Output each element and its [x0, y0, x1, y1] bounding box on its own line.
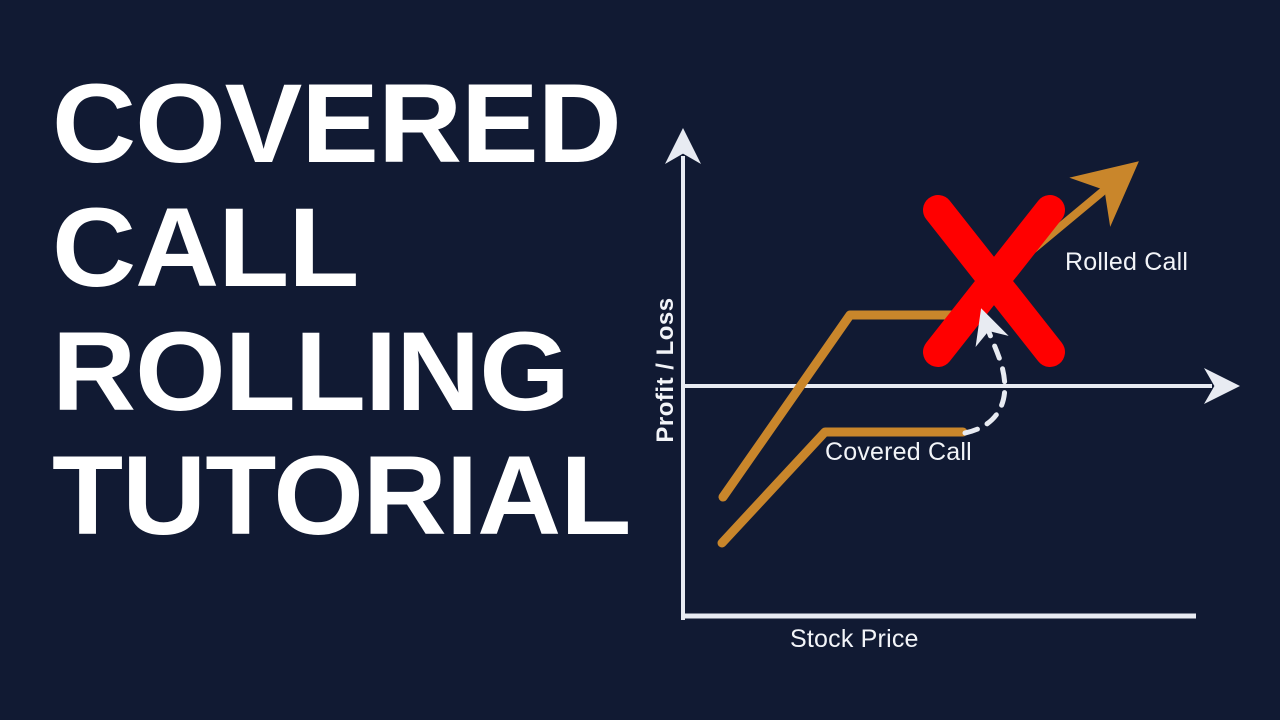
rolled-call-annotation-label: Rolled Call: [1065, 248, 1188, 277]
red-cross-icon: [938, 210, 1050, 352]
y-axis-label: Profit / Loss: [652, 270, 680, 470]
title-line-3: ROLLING: [52, 310, 655, 434]
covered-call-annotation-label: Covered Call: [825, 438, 972, 467]
payoff-diagram: Profit / Loss Stock Price Rolled Call Co…: [620, 120, 1260, 680]
title-line-1: COVERED: [52, 62, 655, 186]
title-line-2: CALL: [52, 186, 655, 310]
payoff-chart-svg: [620, 120, 1260, 680]
rolled-call-payoff-line: [723, 315, 960, 497]
thumbnail-canvas: COVERED CALL ROLLING TUTORIAL: [0, 0, 1280, 720]
roll-dashed-arrow-icon: [965, 332, 1005, 433]
title-line-4: TUTORIAL: [52, 434, 655, 558]
video-title: COVERED CALL ROLLING TUTORIAL: [52, 62, 632, 602]
x-axis-label: Stock Price: [790, 625, 919, 654]
